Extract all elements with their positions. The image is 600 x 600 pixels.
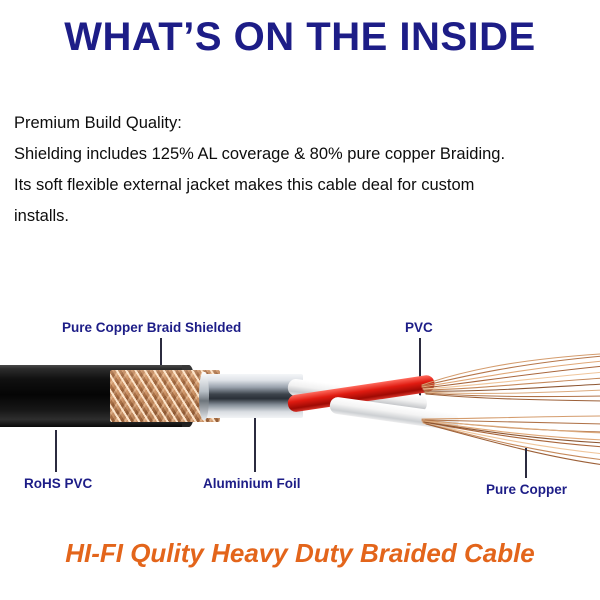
description-block: Premium Build Quality: Shielding include…	[14, 108, 589, 232]
cable-cutaway-diagram: Pure Copper Braid Shielded PVC	[0, 300, 600, 520]
callout-label-pvc: PVC	[405, 320, 433, 335]
description-line-2: Shielding includes 125% AL coverage & 80…	[14, 139, 589, 170]
leader-line-aluminium-foil	[254, 418, 256, 472]
page-title: WHAT’S ON THE INSIDE	[0, 14, 600, 60]
cable-layer-aluminium-foil	[205, 374, 303, 418]
description-line-3: Its soft flexible external jacket makes …	[14, 170, 589, 201]
infographic-page: WHAT’S ON THE INSIDE Premium Build Quali…	[0, 0, 600, 600]
callout-label-copper-braid: Pure Copper Braid Shielded	[62, 320, 241, 335]
footer-tagline: HI-FI Qulity Heavy Duty Braided Cable	[0, 537, 600, 569]
callout-label-aluminium-foil: Aluminium Foil	[203, 476, 301, 491]
callout-label-rohs-pvc: RoHS PVC	[24, 476, 92, 491]
leader-line-pure-copper	[525, 448, 527, 478]
bare-copper-strands-upper	[420, 352, 600, 402]
callout-label-pure-copper: Pure Copper	[486, 482, 567, 497]
leader-line-rohs-pvc	[55, 430, 57, 472]
description-line-4: installs.	[14, 201, 589, 232]
bare-copper-strands-lower	[420, 410, 600, 466]
cable-foil-edge	[199, 372, 209, 420]
description-line-1: Premium Build Quality:	[14, 108, 589, 139]
